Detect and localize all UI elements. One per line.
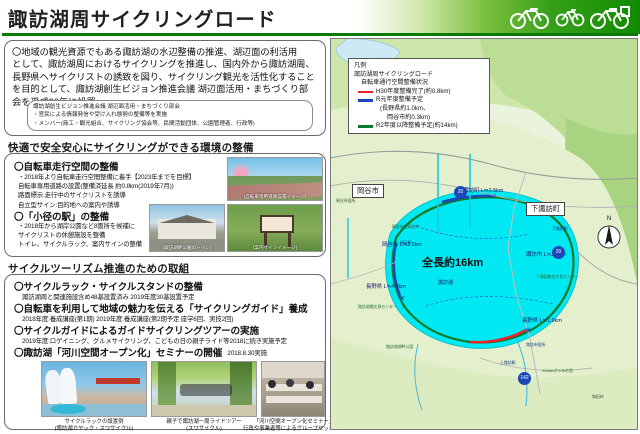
photo-caption: (諏訪湖畔公園のトイレ) <box>150 245 224 251</box>
item-detail: サイクリストの休憩施設を整備 <box>18 232 142 241</box>
photo-family-ride <box>151 361 257 417</box>
map-poi-shimosuwa-culture-center: 下諏訪総合文化センター <box>536 274 579 280</box>
map-poi-kamisuwa-station: 上諏訪駅 <box>500 360 516 366</box>
intro-line: 〇地域の観光資源でもある諏訪湖の水辺整備の推進、湖辺面の利活用 <box>12 46 315 58</box>
map-poi-wada-pass: 和田峠 <box>592 394 604 400</box>
section1-item-2: 〇「小径の駅」の整備 ・2018年から湖岸公園など8箇所を候補に サイクリストの… <box>14 209 142 249</box>
item-heading: 〇サイクルラック・サイクルスタンドの整備 <box>14 279 203 293</box>
lake-name-label: 諏訪湖 <box>438 280 453 286</box>
legend-swatch-red <box>358 91 373 93</box>
section1-box: 〇自転車走行空間の整備 ・2018年より自転車走行空間整備に着手【2023年まで… <box>4 153 326 257</box>
map-poi-geyser-center: 諏訪湖間欠泉センター <box>358 304 397 310</box>
legend-swatch-blue <box>358 99 373 101</box>
item-date: 2018.8.30実施 <box>227 349 267 358</box>
map-label-okaya-city: 岡谷市 <box>352 184 384 198</box>
map-poi-shimosuwa-station: 下諏訪駅 <box>552 226 568 232</box>
compass-needle-icon <box>596 223 622 249</box>
map-poi-okaya-juniorhigh: 岡谷市立岡谷中 <box>392 224 419 230</box>
legend-title: 凡例 <box>354 62 489 71</box>
caption-line: (諏訪湖カヤック・スワサイクル) <box>29 426 159 433</box>
intro-line: 長野県へサイクリストの誘致を図り、サイクリング観光を活性化すること <box>12 71 315 83</box>
route-badge-20b: 20 <box>552 246 565 259</box>
photo-caption: (案内サインイメージ) <box>228 245 322 251</box>
small-bicycle-icon <box>555 6 585 28</box>
item-heading: 〇「小径の駅」の整備 <box>14 209 142 223</box>
item-detail: ・2018年から湖岸公園など8箇所を候補に <box>18 223 142 232</box>
document-page: 諏訪湖周サイクリングロード 〇地域の観光資源でもある諏訪湖の水辺整備の推進、湖辺… <box>0 0 640 434</box>
lake-total-length-label: 全長約16km <box>422 254 483 270</box>
photo-seminar <box>261 361 325 417</box>
intro-box: 〇地域の観光資源でもある諏訪湖の水辺整備の推進、湖辺面の利活用 として、諏訪湖周… <box>4 40 326 136</box>
intro-note-bullet: ・メンバー(商工・観光組合、サイクリング協会等、民間活動団体、公園管理者、行政等… <box>33 120 308 128</box>
legend-subtitle-1: 諏訪湖周サイクリングロード <box>354 71 489 80</box>
map-segment-label-okaya: 岡谷市 L≒2.3km <box>382 242 422 248</box>
item-detail: 自転車専用道路の設置(整備済延長 約0.8km(2019年7月)) <box>18 182 195 191</box>
photo-guide-sign-2: (案内サインイメージ) <box>227 204 323 252</box>
header-divider <box>2 33 638 36</box>
cargo-bicycle-icon <box>588 4 634 30</box>
item-detail: トイレ、サイクルラック、案内サインの整備 <box>18 241 142 250</box>
intro-note-title: 諏訪湖創生ビジョン推進会議 湖辺面活用・まちづくり部会 <box>33 103 308 111</box>
page-title: 諏訪湖周サイクリングロード <box>8 3 277 32</box>
item-heading: 〇諏訪湖「河川空間オープン化」セミナーの開催 <box>14 345 222 359</box>
map-poi-suwako-lakeside-park: 諏訪湖湖畔公園 <box>386 344 413 350</box>
intro-line: として、諏訪湖周におけるサイクリングを推進し、国内外から諏訪湖周、 <box>12 58 315 70</box>
bicycle-icon <box>508 4 552 30</box>
legend-entry-label: R2年度以降整備予定(約14km) <box>376 122 458 131</box>
section2-item-1: 〇サイクルラック・サイクルスタンドの整備 諏訪湖周と関連施設含め48基設置済み … <box>14 279 203 302</box>
legend-subtitle-2: 自転車通行空間整備状況 <box>354 79 489 88</box>
intro-note-box: 諏訪湖創生ビジョン推進会議 湖辺面活用・まちづくり部会 ・官民による情報発信や受… <box>27 100 313 131</box>
map-poi-suwa-glass: SUWAガラスの里 <box>542 368 573 374</box>
item-detail: 路面標示:走行中のサイクリストを誘導 <box>18 191 195 200</box>
photo-caption: (自転車専用道路設置イメージ) <box>228 194 322 200</box>
compass-north-icon: N <box>596 216 622 250</box>
section2-item-3: 〇サイクルガイドによるガイドサイクリングツアーの実施 2019年度:ロゲイニング… <box>14 323 287 346</box>
intro-note-bullet: ・官民による情報発信や受け入れ態勢の整備等を実施 <box>33 111 308 119</box>
map-legend: 凡例 諏訪湖周サイクリングロード 自転車通行空間整備状況 H30年度整備完了(約… <box>348 58 490 134</box>
map-poi-okaya-cityhall: 岡谷市役所 <box>336 198 355 204</box>
photo-park-restroom: (諏訪湖畔公園のトイレ) <box>149 204 225 252</box>
photo-bicycle-lane: (自転車専用道路設置イメージ) <box>227 157 323 201</box>
item-heading: 〇自転車を利用して地域の魅力を伝える「サイクリングガイド」養成 <box>14 301 308 315</box>
section1-item-1: 〇自転車走行空間の整備 ・2018年より自転車走行空間整備に着手【2023年まで… <box>14 159 195 210</box>
section2-item-4: 〇諏訪湖「河川空間オープン化」セミナーの開催 2018.8.30実施 <box>14 345 267 359</box>
compass-label: N <box>596 216 622 223</box>
legend-swatch-green <box>358 125 373 127</box>
map-segment-label-nagano-1: 長野県 L≒4.2km <box>366 284 406 290</box>
bicycle-icon-group <box>484 2 634 32</box>
section2-item-2: 〇自転車を利用して地域の魅力を伝える「サイクリングガイド」養成 2018年度:養… <box>14 301 308 324</box>
map-segment-label-nagano-2: 長野県 L≒1.9km <box>522 318 562 324</box>
photo-cycle-rack <box>41 361 147 417</box>
map-poi-suwa-cityhall: 諏訪市役所 <box>526 342 545 348</box>
legend-entry-r1-note-2: 岡谷市約0.3km) <box>354 114 489 123</box>
route-badge-20a: 20 <box>454 186 467 199</box>
route-badge-142: 142 <box>518 372 531 385</box>
item-heading: 〇自転車走行空間の整備 <box>14 159 195 173</box>
legend-entry-label: R元年度整備予定 <box>376 96 423 105</box>
section2-box: 〇サイクルラック・サイクルスタンドの整備 諏訪湖周と関連施設含め48基設置済み … <box>4 274 326 430</box>
legend-entry-r1-note-1: (長野県約1.0km、 <box>354 105 489 114</box>
item-detail: ・2018年より自転車走行空間整備に着手【2023年までを目標】 <box>18 173 195 182</box>
photo-cycle-rack-caption: サイクルラックの設置例 (諏訪湖カヤック・スワサイクル) <box>29 419 159 434</box>
intro-text: 〇地域の観光資源でもある諏訪湖の水辺整備の推進、湖辺面の利活用 として、諏訪湖周… <box>12 46 315 108</box>
legend-entry-r1: R元年度整備予定 <box>354 96 489 105</box>
cycling-route-map[interactable]: 凡例 諏訪湖周サイクリングロード 自転車通行空間整備状況 H30年度整備完了(約… <box>330 38 638 430</box>
legend-entry-r2: R2年度以降整備予定(約14km) <box>354 122 489 131</box>
map-label-shimosuwa-town: 下諏訪町 <box>526 202 565 216</box>
intro-line: を目的として、諏訪湖創生ビジョン推進会議 湖辺面活用・まちづくり部 <box>12 83 315 95</box>
item-heading: 〇サイクルガイドによるガイドサイクリングツアーの実施 <box>14 323 287 337</box>
